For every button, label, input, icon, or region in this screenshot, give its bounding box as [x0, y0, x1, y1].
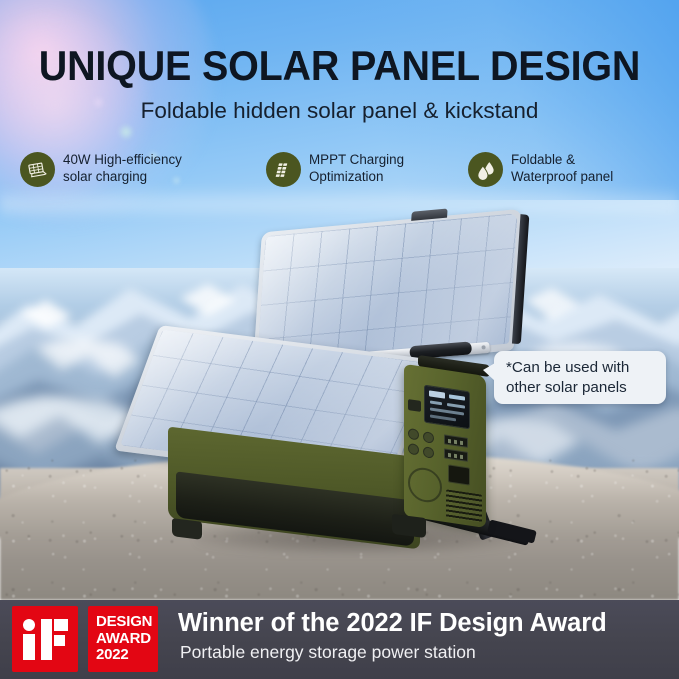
lcd-readout [447, 403, 465, 409]
usb-port [444, 434, 468, 448]
lcd-display [424, 385, 470, 430]
feature-line-1: MPPT Charging [309, 152, 404, 169]
feature-line-2: Waterproof panel [511, 169, 613, 186]
lcd-readout [449, 394, 465, 400]
feature-icon-badge [468, 152, 503, 187]
badge-line-year: 2022 [96, 647, 158, 664]
feature-text: 40W High-efficiency solar charging [63, 152, 182, 185]
feature-text: Foldable & Waterproof panel [511, 152, 613, 185]
control-button [423, 446, 434, 459]
callout-text: *Can be used with other solar panels [506, 358, 658, 397]
feature-line-2: solar charging [63, 169, 182, 186]
badge-line-award: AWARD [96, 631, 158, 648]
power-button [408, 399, 421, 412]
callout-bubble: *Can be used with other solar panels [494, 351, 666, 404]
product-illustration [0, 0, 679, 600]
feature-item-solar-charging: 40W High-efficiency solar charging [20, 150, 182, 187]
feature-icon-badge [20, 152, 55, 187]
footer-title: Winner of the 2022 IF Design Award [178, 608, 607, 638]
footer-subtitle: Portable energy storage power station [180, 641, 476, 663]
if-logo-f-mid-bar-icon [54, 635, 65, 646]
callout-line-2: other solar panels [506, 378, 658, 398]
if-logo-i-stem-icon [23, 634, 35, 660]
feature-line-1: 40W High-efficiency [63, 152, 182, 169]
control-button [408, 428, 419, 441]
control-button [423, 431, 434, 444]
design-award-badge: DESIGN AWARD 2022 [88, 606, 158, 672]
feature-line-1: Foldable & [511, 152, 613, 169]
callout-tail [483, 363, 495, 381]
feature-item-waterproof: Foldable & Waterproof panel [468, 150, 613, 187]
power-station-foot-left [172, 518, 202, 540]
feature-row: 40W High-efficiency solar charging [0, 150, 679, 196]
feature-line-2: Optimization [309, 169, 404, 186]
product-marketing-image: UNIQUE SOLAR PANEL DESIGN Foldable hidde… [0, 0, 679, 679]
if-logo-i-dot-icon [23, 619, 35, 631]
callout-line-1: *Can be used with [506, 358, 658, 378]
control-button [408, 443, 419, 456]
usb-port [444, 448, 468, 462]
if-logo-f-stem-icon [41, 619, 52, 660]
badge-line-design: DESIGN [96, 614, 158, 631]
page-title: UNIQUE SOLAR PANEL DESIGN [20, 42, 658, 90]
lcd-readout [429, 390, 445, 398]
feature-text: MPPT Charging Optimization [309, 152, 404, 185]
solar-panel-icon [27, 159, 48, 180]
vent-grille [446, 489, 482, 522]
mppt-grid-icon [274, 160, 294, 180]
lcd-readout [430, 414, 456, 421]
water-drop-icon [475, 159, 497, 181]
ac-outlet [448, 464, 470, 485]
feature-icon-badge [266, 152, 301, 187]
power-station-foot-right [392, 514, 426, 538]
page-subtitle: Foldable hidden solar panel & kickstand [0, 97, 679, 125]
if-logo-badge [12, 606, 78, 672]
lcd-readout [430, 400, 442, 405]
if-logo-f-top-bar-icon [54, 619, 68, 631]
feature-item-mppt: MPPT Charging Optimization [266, 150, 404, 187]
